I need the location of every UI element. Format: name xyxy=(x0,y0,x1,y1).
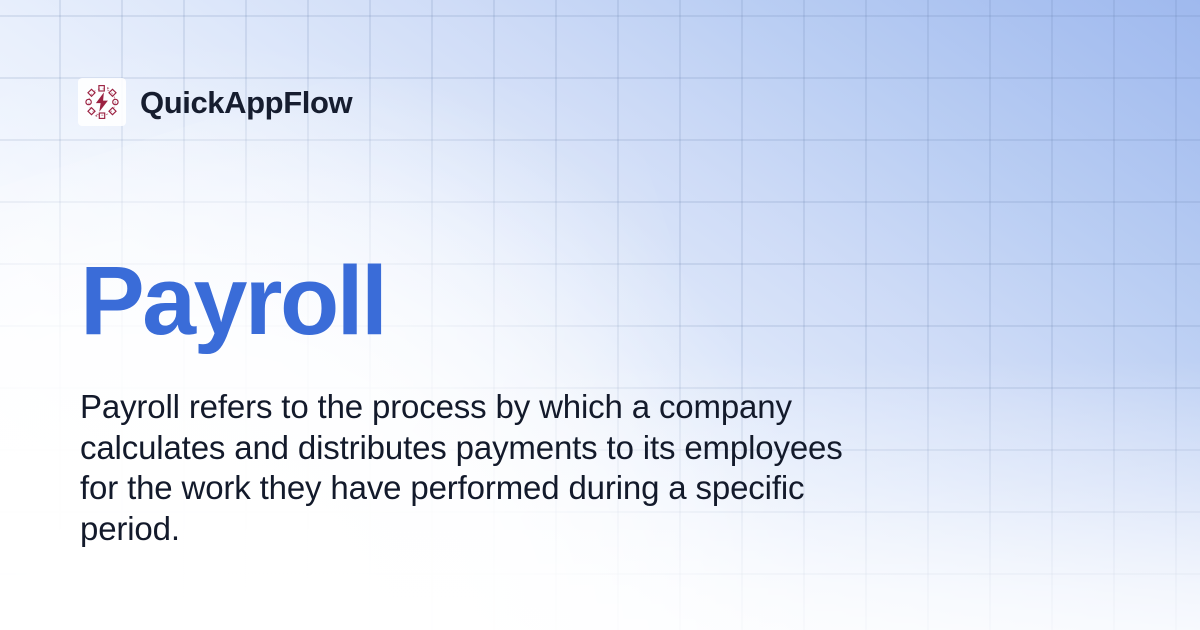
workflow-lightning-icon xyxy=(78,78,126,126)
page-title: Payroll xyxy=(80,252,385,349)
brand-name: QuickAppFlow xyxy=(140,87,352,118)
page-description: Payroll refers to the process by which a… xyxy=(80,387,880,549)
card-content: QuickAppFlow Payroll Payroll refers to t… xyxy=(0,0,1200,630)
brand-lockup[interactable]: QuickAppFlow xyxy=(78,78,352,126)
og-card: QuickAppFlow Payroll Payroll refers to t… xyxy=(0,0,1200,630)
